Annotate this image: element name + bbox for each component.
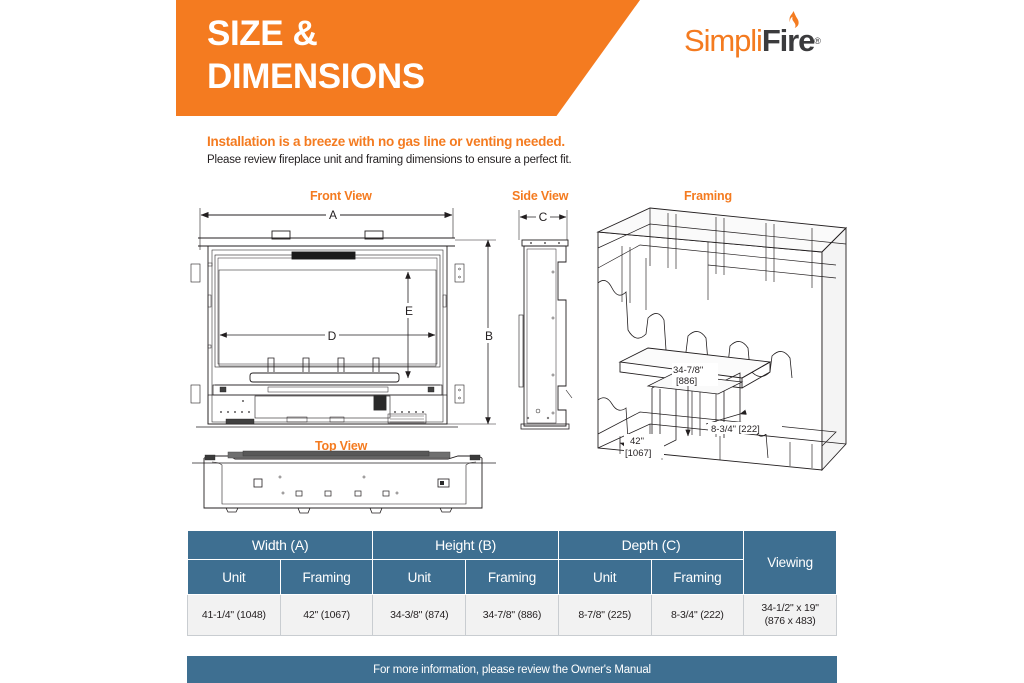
- framing-dim-width-mm: [1067]: [625, 448, 651, 459]
- framing-dim-width-in: 42": [630, 436, 644, 447]
- cell-width-unit: 41-1/4" (1048): [188, 595, 281, 636]
- cell-viewing-line2: (876 x 483): [745, 615, 835, 628]
- svg-text:E: E: [405, 304, 413, 318]
- label-top-view: Top View: [315, 439, 367, 453]
- logo-text-simpli: Simpli: [684, 25, 762, 56]
- table-sub-header-row: Unit Framing Unit Framing Unit Framing: [188, 560, 837, 595]
- label-front-view: Front View: [310, 189, 372, 203]
- cell-width-framing: 42" (1067): [280, 595, 373, 636]
- group-header-width: Width (A): [188, 531, 373, 560]
- framing-dim-height-in: 34-7/8": [673, 365, 703, 376]
- side-view-dimension-letter: C: [536, 209, 550, 224]
- sub-header-depth-unit: Unit: [558, 560, 651, 595]
- sub-header-width-unit: Unit: [188, 560, 281, 595]
- table-footer-text: For more information, please review the …: [373, 664, 651, 676]
- framing-dim-depth: 8-3/4" [222]: [711, 424, 760, 435]
- label-side-view: Side View: [512, 189, 568, 203]
- svg-text:D: D: [328, 329, 337, 343]
- table-row: 41-1/4" (1048) 42" (1067) 34-3/8" (874) …: [188, 595, 837, 636]
- group-header-depth: Depth (C): [558, 531, 743, 560]
- subhead-secondary: Please review fireplace unit and framing…: [207, 154, 572, 166]
- label-framing: Framing: [684, 189, 732, 203]
- cell-height-framing: 34-7/8" (886): [466, 595, 559, 636]
- front-view-dimension-letters: A B D E: [325, 207, 496, 343]
- group-header-height: Height (B): [373, 531, 558, 560]
- framing-dimension-lines: [620, 378, 780, 460]
- logo-text-fire: Fire: [762, 23, 814, 58]
- sub-header-height-framing: Framing: [466, 560, 559, 595]
- framing-dim-height-mm: [886]: [676, 376, 697, 387]
- specifications-table: Width (A) Height (B) Depth (C) Viewing U…: [187, 530, 837, 636]
- sub-header-width-framing: Framing: [280, 560, 373, 595]
- cell-height-unit: 34-3/8" (874): [373, 595, 466, 636]
- cell-depth-unit: 8-7/8" (225): [558, 595, 651, 636]
- sub-header-height-unit: Unit: [373, 560, 466, 595]
- side-view-drawing: [519, 210, 572, 429]
- cell-viewing-line1: 34-1/2" x 19": [745, 602, 835, 615]
- sub-header-depth-framing: Framing: [651, 560, 744, 595]
- framing-annotation-text: 34-7/8" [886] 8-3/4" [222] 42" [1067]: [624, 363, 782, 459]
- cell-viewing: 34-1/2" x 19" (876 x 483): [744, 595, 837, 636]
- svg-text:B: B: [485, 329, 493, 343]
- flame-icon: [787, 11, 800, 28]
- table-footer-bar: For more information, please review the …: [187, 656, 837, 683]
- registered-trademark-symbol: ®: [814, 37, 821, 56]
- svg-text:C: C: [539, 210, 548, 224]
- front-view-drawing: [191, 208, 496, 427]
- group-header-viewing: Viewing: [744, 531, 837, 595]
- svg-text:A: A: [329, 208, 337, 222]
- page-title: SIZE & DIMENSIONS: [207, 12, 637, 98]
- subhead-primary: Installation is a breeze with no gas lin…: [207, 134, 565, 149]
- simplifire-logo: Simpli Fire ®: [684, 22, 821, 56]
- table-group-header-row: Width (A) Height (B) Depth (C) Viewing: [188, 531, 837, 560]
- framing-drawing: [598, 208, 846, 470]
- logo-fire-wrap: Fire: [762, 25, 814, 56]
- cell-depth-framing: 8-3/4" (222): [651, 595, 744, 636]
- top-view-drawing: [192, 451, 496, 513]
